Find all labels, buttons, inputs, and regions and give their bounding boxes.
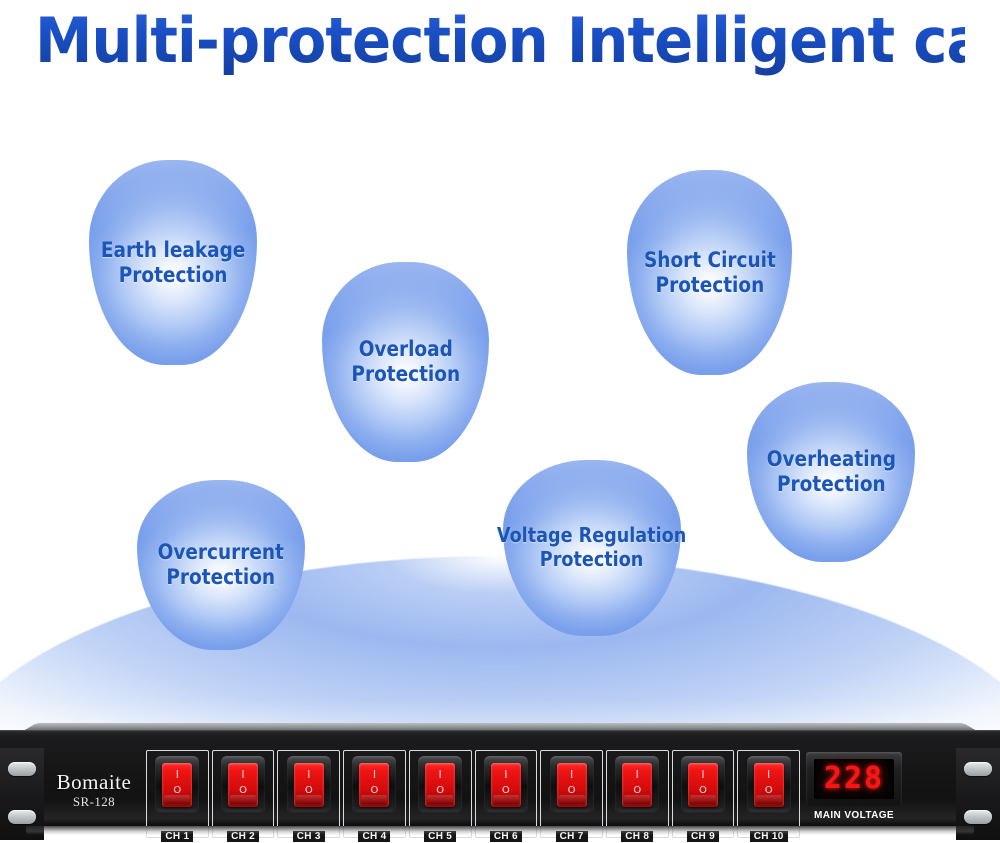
rack-mount-hole xyxy=(8,762,36,776)
power-on-icon: I xyxy=(491,770,521,779)
power-off-icon: O xyxy=(754,786,784,796)
shield-label-line2: Protection xyxy=(497,548,686,572)
shield-badge-overheating: Overheating Protection xyxy=(747,382,915,562)
power-off-icon: O xyxy=(688,786,718,796)
page-title: Multi-protection Intelligent care xyxy=(35,4,965,78)
power-off-icon: O xyxy=(491,786,521,796)
channel-cell: IOCH 10 xyxy=(737,750,800,838)
meter-bezel: 228 xyxy=(806,752,902,806)
power-off-icon: O xyxy=(294,786,324,796)
meter-screen: 228 xyxy=(814,759,894,799)
shield-badge-earth-leakage: Earth leakage Protection xyxy=(89,160,257,365)
shield-label: Overcurrent Protection xyxy=(158,540,284,590)
channel-cell: IOCH 6 xyxy=(475,750,538,838)
shield-label-line2: Protection xyxy=(766,472,895,497)
model-number: SR-128 xyxy=(48,794,140,810)
rocker-switch-5[interactable]: IO xyxy=(425,763,455,807)
shield-label-line1: Earth leakage xyxy=(101,238,245,263)
power-off-icon: O xyxy=(557,786,587,796)
channel-cell: IOCH 3 xyxy=(277,750,340,838)
shield-label: Overload Protection xyxy=(351,337,460,387)
shield-label-line1: Overcurrent xyxy=(158,540,284,565)
rocker-switch-7[interactable]: IO xyxy=(557,763,587,807)
rocker-switch-4[interactable]: IO xyxy=(359,763,389,807)
shield-label-line1: Voltage Regulation xyxy=(497,524,686,548)
channel-cell: IOCH 2 xyxy=(212,750,275,838)
power-on-icon: I xyxy=(359,770,389,779)
power-on-icon: I xyxy=(162,770,192,779)
rocker-switch-bezel: IO xyxy=(221,756,265,814)
product-feature-graphic: Multi-protection Intelligent care Earth … xyxy=(0,0,1000,843)
shield-label: Overheating Protection xyxy=(766,447,895,497)
shield-label: Voltage Regulation Protection xyxy=(497,524,686,571)
power-strip-device: Bomaite SR-128 IOCH 1IOCH 2IOCH 3IOCH 4I… xyxy=(0,714,1000,829)
power-off-icon: O xyxy=(228,786,258,796)
rocker-switch-bezel: IO xyxy=(681,756,725,814)
power-off-icon: O xyxy=(162,786,192,796)
rack-mount-hole xyxy=(964,762,992,776)
rocker-switch-bezel: IO xyxy=(615,756,659,814)
rocker-switch-bezel: IO xyxy=(155,756,199,814)
rocker-switch-bezel: IO xyxy=(550,756,594,814)
power-off-icon: O xyxy=(359,786,389,796)
chassis-bottom-shadow xyxy=(26,826,974,835)
power-off-icon: O xyxy=(622,786,652,796)
shield-label-line2: Protection xyxy=(101,263,245,288)
brand-name: Bomaite xyxy=(48,770,140,795)
power-on-icon: I xyxy=(294,770,324,779)
rocker-switch-10[interactable]: IO xyxy=(754,763,784,807)
channel-switch-row: IOCH 1IOCH 2IOCH 3IOCH 4IOCH 5IOCH 6IOCH… xyxy=(146,750,800,838)
shield-label: Short Circuit Protection xyxy=(644,248,776,298)
power-on-icon: I xyxy=(425,770,455,779)
voltage-meter: 228 MAIN VOLTAGE xyxy=(806,752,902,836)
power-off-icon: O xyxy=(425,786,455,796)
shield-label-line2: Protection xyxy=(644,273,776,298)
rocker-switch-6[interactable]: IO xyxy=(491,763,521,807)
voltage-meter-label: MAIN VOLTAGE xyxy=(806,810,902,821)
chassis-front-face: Bomaite SR-128 IOCH 1IOCH 2IOCH 3IOCH 4I… xyxy=(0,730,1000,826)
channel-cell: IOCH 9 xyxy=(672,750,735,838)
channel-cell: IOCH 8 xyxy=(606,750,669,838)
voltage-value: 228 xyxy=(824,764,884,794)
shield-label: Earth leakage Protection xyxy=(101,238,245,288)
rocker-switch-bezel: IO xyxy=(287,756,331,814)
rocker-switch-2[interactable]: IO xyxy=(228,763,258,807)
rack-mount-hole xyxy=(8,810,36,824)
rack-mount-hole xyxy=(964,810,992,824)
channel-cell: IOCH 5 xyxy=(409,750,472,838)
power-on-icon: I xyxy=(228,770,258,779)
rocker-switch-bezel: IO xyxy=(747,756,791,814)
rocker-switch-3[interactable]: IO xyxy=(294,763,324,807)
channel-cell: IOCH 7 xyxy=(540,750,603,838)
shield-label-line2: Protection xyxy=(351,362,460,387)
rocker-switch-1[interactable]: IO xyxy=(162,763,192,807)
power-on-icon: I xyxy=(688,770,718,779)
rocker-switch-9[interactable]: IO xyxy=(688,763,718,807)
channel-cell: IOCH 1 xyxy=(146,750,209,838)
shield-label-line1: Overload xyxy=(351,337,460,362)
power-on-icon: I xyxy=(754,770,784,779)
shield-label-line2: Protection xyxy=(158,565,284,590)
shield-badge-overload: Overload Protection xyxy=(322,262,489,462)
rocker-switch-8[interactable]: IO xyxy=(622,763,652,807)
power-on-icon: I xyxy=(557,770,587,779)
rocker-switch-bezel: IO xyxy=(484,756,528,814)
power-on-icon: I xyxy=(622,770,652,779)
channel-cell: IOCH 4 xyxy=(343,750,406,838)
shield-label-line1: Overheating xyxy=(766,447,895,472)
rocker-switch-bezel: IO xyxy=(352,756,396,814)
shield-badge-short-circuit: Short Circuit Protection xyxy=(627,170,792,375)
shield-label-line1: Short Circuit xyxy=(644,248,776,273)
rocker-switch-bezel: IO xyxy=(418,756,462,814)
